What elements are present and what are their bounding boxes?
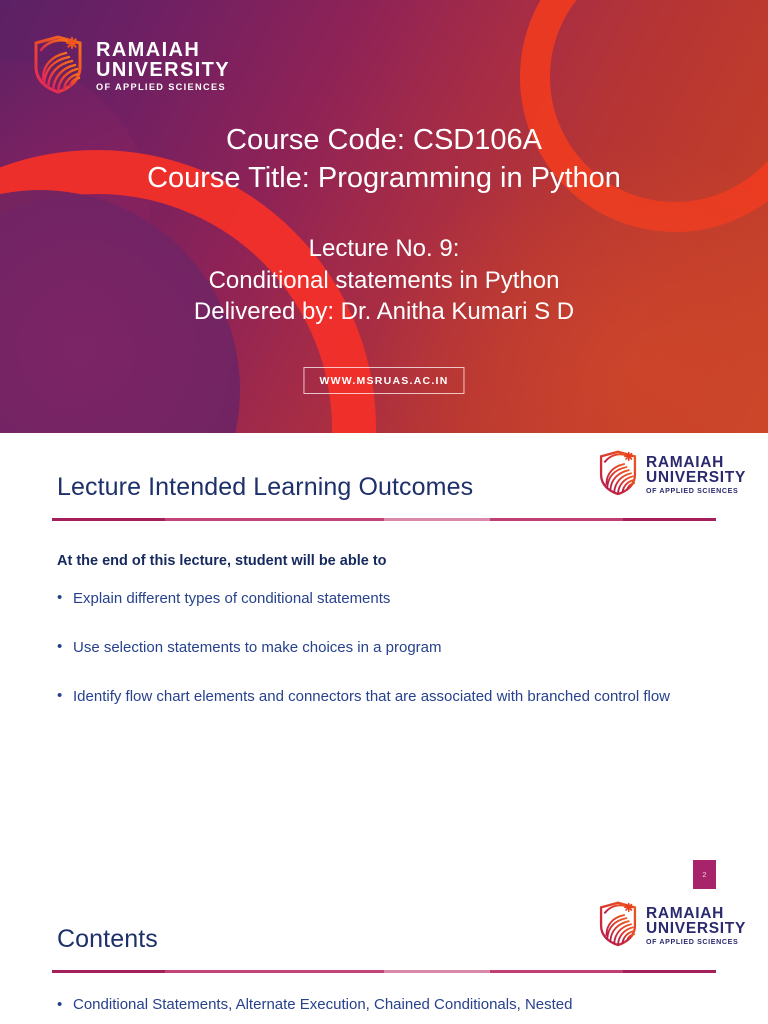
ramaiah-shield-icon xyxy=(32,34,84,99)
brand-name-line3: OF APPLIED SCIENCES xyxy=(96,83,230,92)
brand-logo-color: RAMAIAH UNIVERSITY OF APPLIED SCIENCES xyxy=(598,900,746,952)
outcomes-bullet-list: Explain different types of conditional s… xyxy=(57,588,717,734)
brand-logo-color: RAMAIAH UNIVERSITY OF APPLIED SCIENCES xyxy=(598,449,746,501)
brand-name-line2: UNIVERSITY xyxy=(646,921,746,937)
ramaiah-shield-icon xyxy=(598,900,638,952)
list-item: Identify flow chart elements and connect… xyxy=(57,686,717,709)
brand-name-line1: RAMAIAH xyxy=(96,40,230,60)
brand-wordmark: RAMAIAH UNIVERSITY OF APPLIED SCIENCES xyxy=(646,455,746,495)
outcomes-slide: RAMAIAH UNIVERSITY OF APPLIED SCIENCES L… xyxy=(0,433,768,850)
brand-name-line3: OF APPLIED SCIENCES xyxy=(646,939,746,946)
brand-logo-white: RAMAIAH UNIVERSITY OF APPLIED SCIENCES xyxy=(32,34,230,99)
heading-divider xyxy=(52,518,716,521)
contents-bullet-list: Conditional Statements, Alternate Execut… xyxy=(57,991,737,1019)
brand-name-line1: RAMAIAH xyxy=(646,906,746,922)
course-code: Course Code: CSD106A xyxy=(0,122,768,160)
title-text-block: Course Code: CSD106A Course Title: Progr… xyxy=(0,122,768,326)
list-item: Conditional Statements, Alternate Execut… xyxy=(57,991,737,1019)
title-slide: RAMAIAH UNIVERSITY OF APPLIED SCIENCES C… xyxy=(0,0,768,433)
page-title: Lecture Intended Learning Outcomes xyxy=(57,473,473,502)
heading-divider xyxy=(52,970,716,973)
brand-name-line2: UNIVERSITY xyxy=(646,470,746,486)
delivered-by: Delivered by: Dr. Anitha Kumari S D xyxy=(0,298,768,326)
brand-name-line1: RAMAIAH xyxy=(646,455,746,471)
list-item: Use selection statements to make choices… xyxy=(57,637,717,660)
course-title: Course Title: Programming in Python xyxy=(0,160,768,198)
brand-name-line2: UNIVERSITY xyxy=(96,60,230,80)
page-number-badge: 2 xyxy=(693,860,716,889)
brand-name-line3: OF APPLIED SCIENCES xyxy=(646,488,746,495)
lecture-topic: Conditional statements in Python xyxy=(0,267,768,295)
outcomes-lead-text: At the end of this lecture, student will… xyxy=(57,553,387,569)
page-title: Contents xyxy=(57,925,158,954)
brand-wordmark: RAMAIAH UNIVERSITY OF APPLIED SCIENCES xyxy=(646,906,746,946)
brand-wordmark: RAMAIAH UNIVERSITY OF APPLIED SCIENCES xyxy=(96,40,230,92)
contents-slide: 2 xyxy=(0,850,768,1024)
lecture-info-block: Lecture No. 9: Conditional statements in… xyxy=(0,235,768,326)
ramaiah-shield-icon xyxy=(598,449,638,501)
list-item: Explain different types of conditional s… xyxy=(57,588,717,611)
website-url-badge[interactable]: WWW.MSRUAS.AC.IN xyxy=(303,367,464,394)
lecture-number: Lecture No. 9: xyxy=(0,235,768,263)
